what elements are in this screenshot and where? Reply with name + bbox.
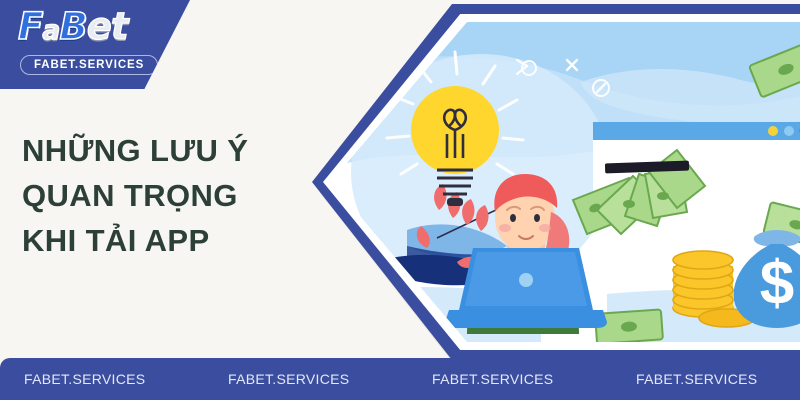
footer-label-1: FABET.SERVICES	[24, 371, 145, 387]
logo-letter-a: a	[42, 15, 59, 46]
footer-label-4: FABET.SERVICES	[636, 371, 757, 387]
title-line-2: QUAN TRỌNG	[22, 173, 332, 218]
page-title: NHỮNG LƯU Ý QUAN TRỌNG KHI TẢI APP	[22, 128, 332, 263]
title-line-1: NHỮNG LƯU Ý	[22, 128, 332, 173]
banner-root: $	[0, 0, 800, 400]
brand-badge: FABET.SERVICES	[20, 55, 158, 75]
logo-letter-b: B	[60, 5, 87, 48]
logo-letters-et: et	[87, 5, 128, 48]
brand-inner: FaBet FABET.SERVICES	[14, 5, 164, 75]
laptop-logo	[519, 273, 533, 287]
brand-logo[interactable]: FaBet	[14, 5, 164, 53]
bag-dollar-symbol: $	[760, 249, 794, 318]
brand-band: FaBet FABET.SERVICES	[0, 0, 190, 89]
money-bill-desk-2	[331, 318, 381, 342]
laptop-base	[445, 310, 607, 328]
logo-letter-f: F	[18, 5, 42, 48]
browser-dot-blue	[784, 126, 794, 136]
footer-bar: FABET.SERVICES FABET.SERVICES FABET.SERV…	[0, 358, 800, 400]
title-line-3: KHI TẢI APP	[22, 218, 332, 263]
footer-label-2: FABET.SERVICES	[228, 371, 349, 387]
browser-dot-yellow	[768, 126, 778, 136]
footer-label-3: FABET.SERVICES	[432, 371, 553, 387]
